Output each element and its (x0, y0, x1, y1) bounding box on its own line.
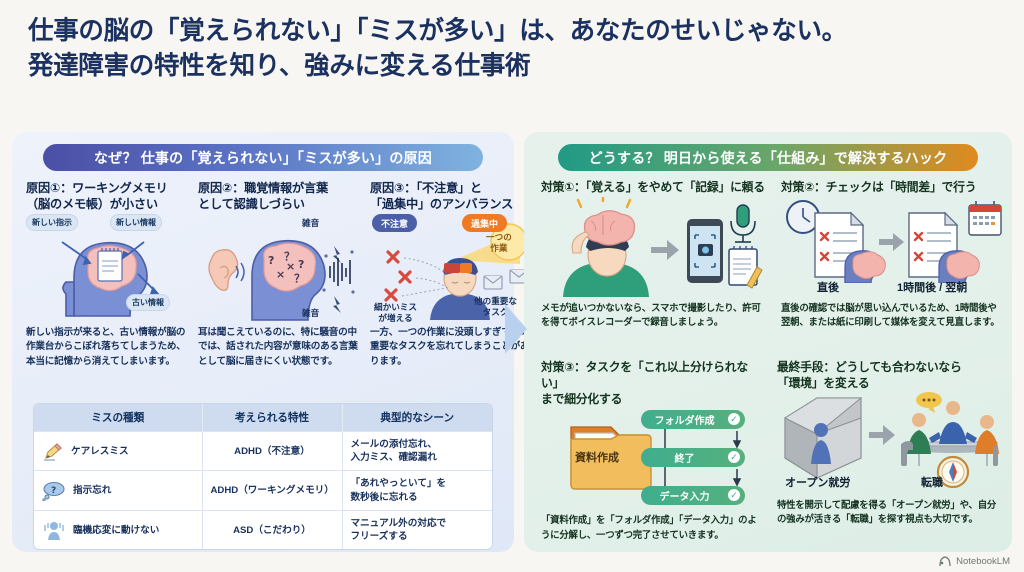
solution-3-step-1: フォルダ作成 ✓ (641, 410, 745, 429)
cause-1-tag-new-instruction: 新しい指示 (26, 214, 78, 231)
solution-3-step-3-label: データ入力 (660, 488, 710, 503)
cause-1-caption: 新しい指示が来ると、古い情報が脳の作業台からこぼれ落ちてしまうため、本当に記憶か… (26, 326, 186, 369)
table-cell-trait: ASD（こだわり） (202, 510, 342, 549)
person-frozen-icon (42, 520, 66, 541)
mistake-types-table: ミスの種類 考えられる特性 典型的なシーン (34, 404, 492, 549)
solution-column-2: 対策②：チェックは「時間差」で行う (774, 180, 1010, 330)
table-header-trait: 考えられる特性 (202, 404, 342, 432)
page-title: 仕事の脳の「覚えられない」「ミスが多い」は、あなたのせいじゃない。 発達障害の特… (28, 14, 1008, 84)
solutions-panel: どうする？ 明日から使える「仕組み」で解決するハック 対策①：「覚える」をやめて… (524, 132, 1012, 552)
cause-1-heading: 原因①：ワーキングメモリ （脳のメモ帳）が小さい (26, 180, 186, 214)
table-cell-type: 臨機応変に動けない (73, 524, 159, 537)
solution-4-illustration: オープン就労 転職 (777, 392, 999, 498)
solution-4-heading: 最終手段：どうしても合わないなら 「環境」を変える (777, 360, 999, 392)
svg-text:？: ？ (294, 272, 305, 285)
causes-columns: 原因①：ワーキングメモリ （脳のメモ帳）が小さい (20, 180, 506, 369)
solution-3-step-3: データ入力 ✓ (641, 486, 745, 505)
cause-2-label-noise-bottom: 雑音 (302, 308, 319, 319)
svg-text:×: × (276, 268, 285, 281)
solution-2-illustration: 直後 1時間後 / 翌朝 (781, 197, 1003, 301)
solution-2-label-later: 1時間後 / 翌朝 (897, 279, 967, 295)
table-header-scene: 典型的なシーン (342, 404, 492, 432)
table-cell-type: 指示忘れ (73, 484, 111, 497)
table-row: ? 指示忘れ ADHD（ワーキングメモリ） 「あれやっといて」を 数秒後に忘れる (34, 471, 492, 510)
thought-bubble-icon: ? (42, 481, 66, 501)
table-cell-scene: メールの添付忘れ、 入力ミス、確認漏れ (342, 432, 492, 471)
svg-text:?: ? (268, 254, 274, 267)
solutions-panel-header: どうする？ 明日から使える「仕組み」で解決するハック (558, 144, 978, 171)
cause-3-label-single-task: 一つの 作業 (486, 232, 512, 254)
svg-text:?: ? (51, 486, 56, 496)
page-title-line-2: 発達障害の特性を知り、強みに変える仕事術 (28, 49, 1008, 84)
solution-2-heading: 対策②：チェックは「時間差」で行う (781, 180, 1003, 197)
table-row: 臨機応変に動けない ASD（こだわり） マニュアル外の対応で フリーズする (34, 510, 492, 549)
table-cell-scene: マニュアル外の対応で フリーズする (342, 510, 492, 549)
causes-panel: なぜ？ 仕事の「覚えられない」「ミスが多い」の原因 原因①：ワーキングメモリ （… (12, 132, 514, 552)
page-title-line-1: 仕事の脳の「覚えられない」「ミスが多い」は、あなたのせいじゃない。 (28, 14, 1008, 49)
cause-1-tag-new-info: 新しい情報 (110, 214, 162, 231)
solution-3-caption: 「資料作成」を「フォルダ作成」「データ入力」のように分解し、一つずつ完了させてい… (541, 513, 763, 542)
svg-text:?: ? (298, 258, 304, 271)
solution-3-source-label: 資料作成 (575, 449, 619, 465)
pencil-icon (42, 441, 64, 461)
cause-column-1: 原因①：ワーキングメモリ （脳のメモ帳）が小さい (20, 180, 192, 369)
solution-4-caption: 特性を開示して配慮を得る「オープン就労」や、自分の強みが活きる「転職」を探す視点… (777, 498, 999, 527)
cause-1-illustration: 新しい指示 新しい情報 古い情報 (26, 216, 186, 326)
watermark: NotebookLM (939, 556, 1010, 567)
solution-column-4: 最終手段：どうしても合わないなら 「環境」を変える (770, 360, 1006, 542)
table-row: ケアレスミス ADHD（不注意） メールの添付忘れ、 入力ミス、確認漏れ (34, 432, 492, 471)
solutions-row-1: 対策①：「覚える」をやめて「記録」に頼る (534, 180, 1002, 330)
cause-1-tag-old-info: 古い情報 (126, 294, 170, 311)
notebooklm-logo-icon (939, 556, 952, 567)
cause-2-illustration: ?？ ?× ？× (198, 216, 358, 326)
table-header-type: ミスの種類 (34, 404, 202, 432)
table-cell-trait: ADHD（ワーキングメモリ） (202, 471, 342, 510)
solution-3-step-1-label: フォルダ作成 (655, 412, 715, 427)
solution-1-caption: メモが追いつかないなら、スマホで撮影したり、許可を得てボイスレコーダーで録音しま… (541, 301, 767, 330)
table-cell-trait: ADHD（不注意） (202, 432, 342, 471)
transition-arrow-icon (505, 300, 535, 358)
cause-3-badge-inattention: 不注意 (372, 214, 417, 232)
solution-column-3: 対策③：タスクを「これ以上分けられない」 まで細分化する (534, 360, 770, 542)
cause-3-badge-hyperfocus: 過集中 (462, 214, 507, 232)
solution-3-step-2: 終了 ✓ (641, 448, 745, 467)
table-cell-type: ケアレスミス (71, 445, 129, 458)
causes-panel-header: なぜ？ 仕事の「覚えられない」「ミスが多い」の原因 (43, 144, 483, 171)
table-header-row: ミスの種類 考えられる特性 典型的なシーン (34, 404, 492, 432)
cause-column-2: 原因②：職覚情報が言葉 として認識しづらい ?？ ? (192, 180, 364, 369)
solutions-row-2: 対策③：タスクを「これ以上分けられない」 まで細分化する (534, 360, 1002, 542)
cause-2-label-noise-top: 雑音 (302, 218, 319, 229)
solution-2-label-immediate: 直後 (817, 279, 839, 295)
solution-4-label-open-employment: オープン就労 (785, 474, 850, 490)
solution-3-heading: 対策③：タスクを「これ以上分けられない」 まで細分化する (541, 360, 763, 407)
cause-3-heading: 原因③：「不注意」と 「過集中」のアンバランス (370, 180, 535, 214)
cause-3-label-small-mistakes: 細かいミス が増える (374, 302, 417, 324)
solution-4-label-job-change: 転職 (921, 474, 943, 490)
solution-3-illustration: 資料作成 フォルダ作成 ✓ 終了 ✓ データ入力 ✓ (541, 407, 763, 513)
check-icon: ✓ (728, 413, 740, 425)
solution-2-caption: 直後の確認では脳が思い込んでいるため、1時間後や翌朝、または紙に印刷して媒体を変… (781, 301, 1003, 330)
solution-1-heading: 対策①：「覚える」をやめて「記録」に頼る (541, 180, 767, 197)
solution-1-illustration (541, 197, 767, 301)
solution-column-1: 対策①：「覚える」をやめて「記録」に頼る (534, 180, 774, 330)
cause-2-heading: 原因②：職覚情報が言葉 として認識しづらい (198, 180, 358, 214)
table-cell-scene: 「あれやっといて」を 数秒後に忘れる (342, 471, 492, 510)
solution-3-step-2-label: 終了 (675, 450, 695, 465)
check-icon: ✓ (728, 451, 740, 463)
check-icon: ✓ (728, 489, 740, 501)
cause-2-caption: 耳は聞こえているのに、特に騒音の中では、話された内容が意味のある言葉として脳に届… (198, 326, 358, 369)
watermark-label: NotebookLM (956, 556, 1010, 567)
svg-text:×: × (286, 260, 295, 273)
